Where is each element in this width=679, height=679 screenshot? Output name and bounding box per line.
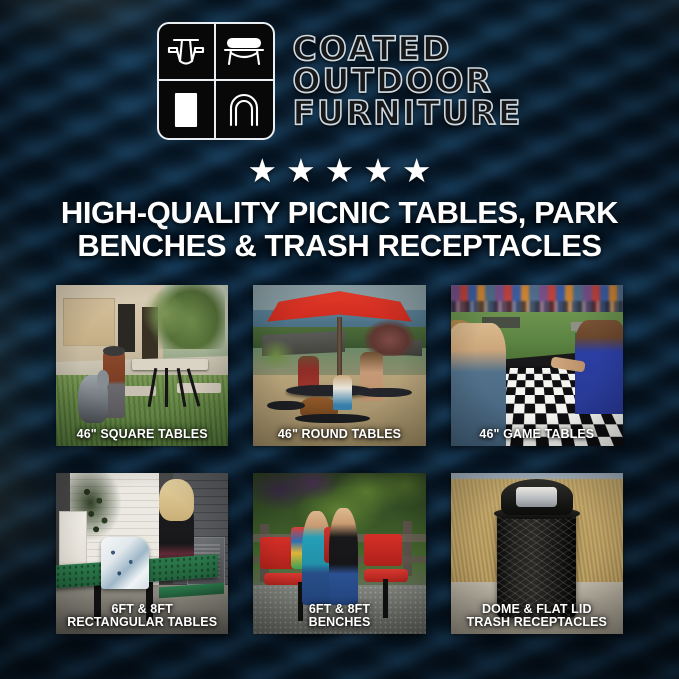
brand-word-coated: COATED — [293, 33, 523, 65]
product-tile-rectangular-tables[interactable]: 6FT & 8FT RECTANGULAR TABLES — [56, 473, 228, 634]
star-icon: ★ — [363, 154, 393, 187]
brand-wordmark: COATED OUTDOOR FURNITURE — [293, 33, 523, 130]
product-photo-square-tables — [56, 285, 228, 446]
star-icon: ★ — [248, 154, 278, 187]
caption-line-1: 46" SQUARE TABLES — [77, 427, 208, 441]
promotional-banner: COATED OUTDOOR FURNITURE ★ ★ ★ ★ ★ HIGH-… — [0, 0, 679, 679]
bike-rack-icon — [216, 81, 273, 138]
park-bench-icon — [216, 24, 273, 81]
product-caption: 6FT & 8FT RECTANGULAR TABLES — [56, 603, 228, 630]
product-caption: 46" GAME TABLES — [451, 428, 623, 442]
banner-header: COATED OUTDOOR FURNITURE ★ ★ ★ ★ ★ HIGH-… — [0, 0, 679, 263]
page-title: HIGH-QUALITY PICNIC TABLES, PARK BENCHES… — [26, 197, 653, 263]
product-photo-round-tables — [253, 285, 425, 446]
product-tile-benches[interactable]: 6FT & 8FT BENCHES — [253, 473, 425, 634]
logo-icon-grid — [157, 22, 275, 140]
caption-line-1: DOME & FLAT LID — [482, 602, 592, 616]
product-tile-square-tables[interactable]: 46" SQUARE TABLES — [56, 285, 228, 446]
trash-receptacle-icon — [159, 81, 216, 138]
star-icon: ★ — [402, 154, 432, 187]
product-tile-trash-receptacles[interactable]: DOME & FLAT LID TRASH RECEPTACLES — [451, 473, 623, 634]
caption-line-1: 6FT & 8FT — [309, 602, 370, 616]
headline-line-2: BENCHES & TRASH RECEPTACLES — [26, 230, 653, 263]
product-caption: 46" ROUND TABLES — [253, 428, 425, 442]
brand-word-furniture: FURNITURE — [293, 97, 523, 129]
product-tile-round-tables[interactable]: 46" ROUND TABLES — [253, 285, 425, 446]
brand-logo: COATED OUTDOOR FURNITURE — [0, 22, 679, 140]
picnic-table-icon — [159, 24, 216, 81]
product-tile-game-tables[interactable]: 46" GAME TABLES — [451, 285, 623, 446]
caption-line-2: BENCHES — [309, 615, 371, 629]
product-grid: 46" SQUARE TABLES 46" ROUND TABLES — [56, 285, 623, 634]
product-caption: 46" SQUARE TABLES — [56, 428, 228, 442]
product-caption: 6FT & 8FT BENCHES — [253, 603, 425, 630]
headline-line-1: HIGH-QUALITY PICNIC TABLES, PARK — [61, 195, 618, 230]
caption-line-1: 46" GAME TABLES — [479, 427, 594, 441]
caption-line-2: RECTANGULAR TABLES — [67, 615, 217, 629]
star-icon: ★ — [286, 154, 316, 187]
product-caption: DOME & FLAT LID TRASH RECEPTACLES — [451, 603, 623, 630]
star-icon: ★ — [325, 154, 355, 187]
product-photo-game-tables — [451, 285, 623, 446]
caption-line-1: 6FT & 8FT — [112, 602, 173, 616]
caption-line-2: TRASH RECEPTACLES — [467, 615, 607, 629]
caption-line-1: 46" ROUND TABLES — [278, 427, 401, 441]
star-rating: ★ ★ ★ ★ ★ — [0, 154, 679, 187]
